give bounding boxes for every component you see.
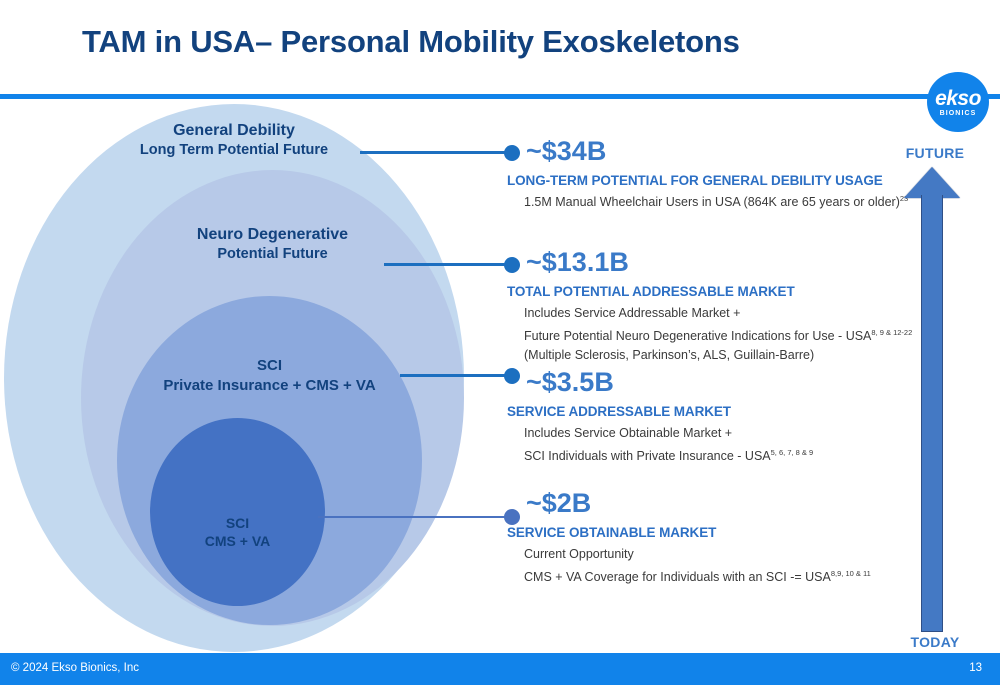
timeline-arrow-shaft xyxy=(921,195,943,632)
market-subhead: SERVICE ADDRESSABLE MARKET xyxy=(507,404,813,419)
footer-page-number: 13 xyxy=(969,662,982,674)
venn-ring-sci-cms-va: SCI CMS + VA xyxy=(150,418,325,606)
slide-root: TAM in USA– Personal Mobility Exoskeleto… xyxy=(0,0,1000,685)
market-amount: ~$34B xyxy=(526,138,908,165)
venn-label-general-debility: General Debility Long Term Potential Fut… xyxy=(4,120,464,160)
market-detail: 1.5M Manual Wheelchair Users in USA (864… xyxy=(524,194,908,211)
venn-label-line1: SCI xyxy=(117,356,422,376)
connector-line-1 xyxy=(360,151,512,154)
up-arrow-icon xyxy=(904,167,960,198)
market-amount: ~$13.1B xyxy=(526,249,912,276)
logo-wordmark: ekso xyxy=(935,88,981,109)
market-detail: SCI Individuals with Private Insurance -… xyxy=(524,448,813,465)
market-block-total-potential-addressable: ~$13.1B TOTAL POTENTIAL ADDRESSABLE MARK… xyxy=(507,249,912,364)
venn-label-line2: Private Insurance + CMS + VA xyxy=(117,376,422,396)
market-block-service-obtainable: ~$2B SERVICE OBTAINABLE MARKET Current O… xyxy=(507,490,871,586)
market-amount: ~$3.5B xyxy=(526,369,813,396)
footer-copyright: © 2024 Ekso Bionics, Inc xyxy=(11,662,139,674)
market-detail: Current Opportunity xyxy=(524,546,871,563)
timeline-label-future: FUTURE xyxy=(880,145,990,161)
market-detail: (Multiple Sclerosis, Parkinson’s, ALS, G… xyxy=(524,347,912,364)
header-divider xyxy=(0,94,1000,99)
venn-label-line2: Potential Future xyxy=(81,245,464,264)
connector-line-3 xyxy=(400,374,512,377)
market-subhead: SERVICE OBTAINABLE MARKET xyxy=(507,525,871,540)
market-detail: CMS + VA Coverage for Individuals with a… xyxy=(524,569,871,586)
venn-label-line2: CMS + VA xyxy=(150,532,325,550)
market-block-service-addressable: ~$3.5B SERVICE ADDRESSABLE MARKET Includ… xyxy=(507,369,813,465)
venn-label-sci-private-cms-va: SCI Private Insurance + CMS + VA xyxy=(117,356,422,396)
venn-label-line1: General Debility xyxy=(4,120,464,141)
market-block-long-term-potential: ~$34B LONG-TERM POTENTIAL FOR GENERAL DE… xyxy=(507,138,908,211)
market-detail: Includes Service Addressable Market + xyxy=(524,305,912,322)
market-detail: Future Potential Neuro Degenerative Indi… xyxy=(524,328,912,345)
connector-line-2 xyxy=(384,263,512,266)
market-subhead: LONG-TERM POTENTIAL FOR GENERAL DEBILITY… xyxy=(507,173,908,188)
venn-label-neuro-degenerative: Neuro Degenerative Potential Future xyxy=(81,224,464,264)
market-detail: Includes Service Obtainable Market + xyxy=(524,425,813,442)
venn-label-sci-cms-va: SCI CMS + VA xyxy=(150,514,325,551)
timeline-label-today: TODAY xyxy=(880,634,990,650)
market-amount: ~$2B xyxy=(526,490,871,517)
venn-label-line1: Neuro Degenerative xyxy=(81,224,464,245)
venn-label-line1: SCI xyxy=(150,514,325,532)
market-subhead: TOTAL POTENTIAL ADDRESSABLE MARKET xyxy=(507,284,912,299)
ekso-bionics-logo: ekso BIONICS xyxy=(927,72,989,132)
page-title: TAM in USA– Personal Mobility Exoskeleto… xyxy=(82,24,740,60)
logo-subtext: BIONICS xyxy=(940,110,977,117)
footer-bar: © 2024 Ekso Bionics, Inc 13 xyxy=(0,653,1000,685)
connector-line-4 xyxy=(318,516,512,518)
